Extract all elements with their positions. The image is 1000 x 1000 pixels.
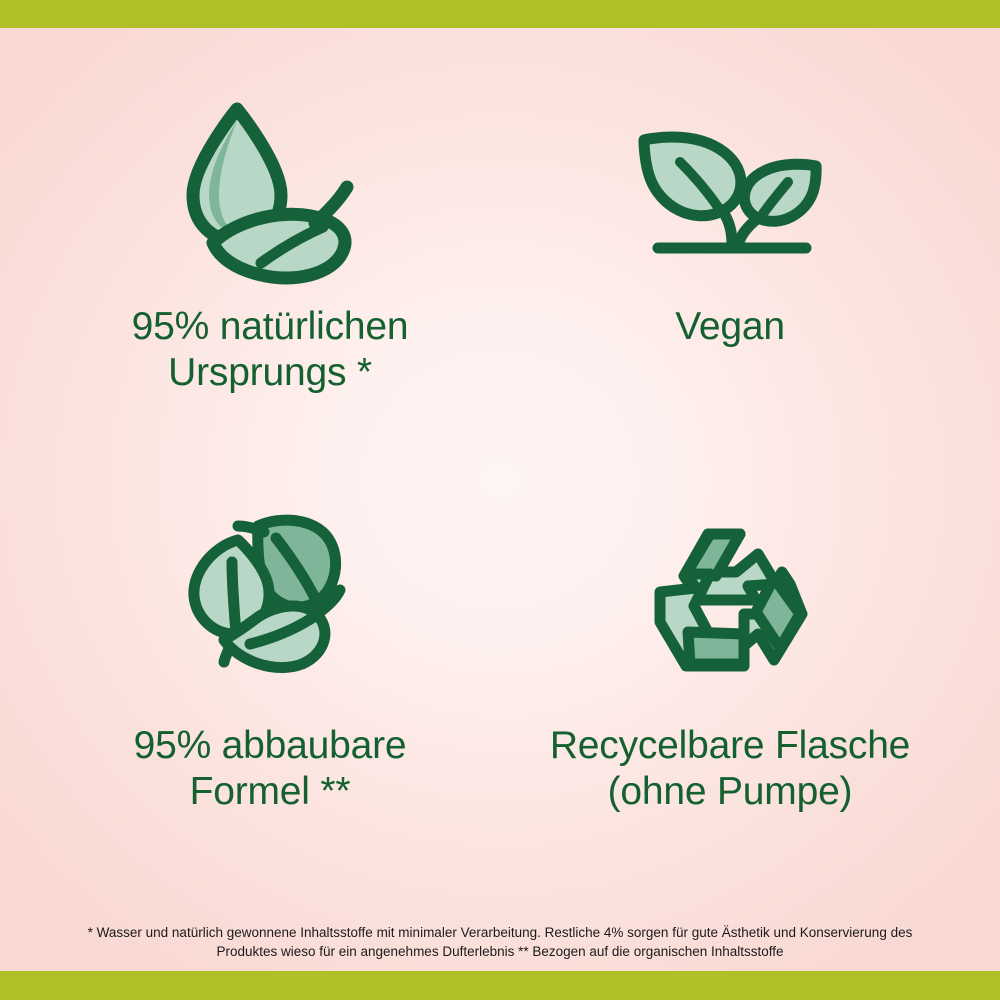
claim-label: Vegan bbox=[675, 304, 785, 350]
claim-biodegradable: 95% abbaubare Formel ** bbox=[40, 494, 500, 900]
bottom-accent-bar bbox=[0, 971, 1000, 1000]
claim-vegan: Vegan bbox=[500, 88, 960, 494]
three-leaves-circle-icon bbox=[180, 494, 360, 699]
recycling-icon bbox=[640, 494, 820, 699]
eco-claims-panel: 95% natürlichen Ursprungs * bbox=[0, 0, 1000, 1000]
claim-label: 95% abbaubare Formel ** bbox=[134, 723, 407, 815]
claim-recyclable-bottle: Recycelbare Flasche (ohne Pumpe) bbox=[500, 494, 960, 900]
claim-natural-origin: 95% natürlichen Ursprungs * bbox=[40, 88, 500, 494]
footnote-text: * Wasser und natürlich gewonnene Inhalts… bbox=[0, 923, 1000, 962]
claim-label: 95% natürlichen Ursprungs * bbox=[132, 304, 409, 396]
top-accent-bar bbox=[0, 0, 1000, 28]
sprout-icon bbox=[630, 88, 830, 288]
claim-label: Recycelbare Flasche (ohne Pumpe) bbox=[550, 723, 910, 815]
claims-grid: 95% natürlichen Ursprungs * bbox=[0, 28, 1000, 971]
droplet-leaf-icon bbox=[165, 88, 375, 288]
